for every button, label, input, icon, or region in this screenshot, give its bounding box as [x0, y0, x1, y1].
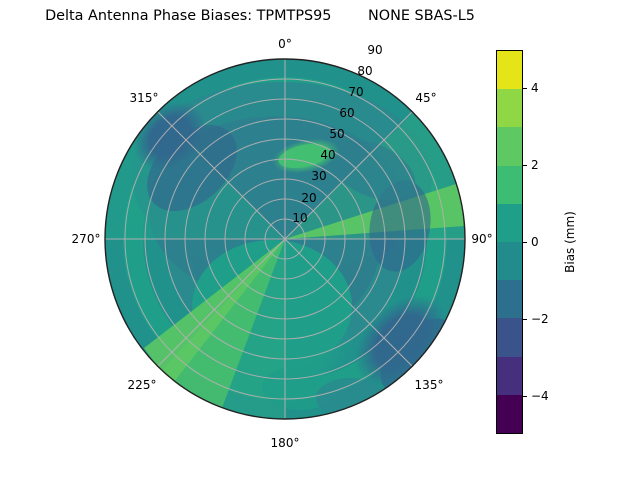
colorbar-band-9: [497, 395, 522, 433]
colorbar-band-8: [497, 357, 522, 395]
colorbar-band-3: [497, 166, 522, 204]
r-tick-90: 90: [367, 43, 382, 57]
colorbar-tick-0: [523, 242, 527, 243]
colorbar: 4 2 0 −2 −4: [496, 50, 523, 434]
theta-tick-270: 270°: [72, 232, 101, 246]
colorbar-tick-4: [523, 88, 527, 89]
colorbar-band-0: [497, 51, 522, 89]
azimuth-gridlines: [105, 59, 465, 419]
colorbar-band-1: [497, 89, 522, 127]
theta-tick-225: 225°: [128, 378, 157, 392]
r-tick-50: 50: [329, 127, 344, 141]
colorbar-ticklabel-m4: −4: [531, 389, 549, 403]
colorbar-gradient: [496, 50, 523, 434]
r-tick-30: 30: [311, 169, 326, 183]
theta-tick-0: 0°: [278, 37, 292, 51]
page-title: Delta Antenna Phase Biases: TPMTPS95 NON…: [0, 8, 520, 24]
r-tick-80: 80: [357, 64, 372, 78]
polar-plot-axes: 0° 45° 90° 135° 180° 225° 270° 315° 10 2…: [104, 58, 466, 420]
theta-tick-90: 90°: [471, 232, 492, 246]
r-tick-70: 70: [348, 85, 363, 99]
colorbar-ticklabel-4: 4: [531, 81, 539, 95]
matplotlib-figure: Delta Antenna Phase Biases: TPMTPS95 NON…: [0, 0, 640, 480]
colorbar-ticklabel-m2: −2: [531, 312, 549, 326]
theta-tick-180: 180°: [271, 436, 300, 450]
colorbar-axis-label: Bias (mm): [560, 50, 580, 434]
r-tick-10: 10: [292, 211, 307, 225]
colorbar-band-4: [497, 204, 522, 242]
colorbar-band-5: [497, 242, 522, 280]
colorbar-tick-m4: [523, 396, 527, 397]
theta-tick-45: 45°: [415, 91, 436, 105]
colorbar-tick-m2: [523, 319, 527, 320]
colorbar-band-7: [497, 318, 522, 356]
colorbar-tick-2: [523, 165, 527, 166]
theta-tick-315: 315°: [130, 91, 159, 105]
colorbar-band-6: [497, 280, 522, 318]
colorbar-band-2: [497, 127, 522, 165]
theta-tick-135: 135°: [415, 378, 444, 392]
colorbar-ticklabel-2: 2: [531, 158, 539, 172]
r-tick-60: 60: [339, 106, 354, 120]
r-tick-40: 40: [320, 148, 335, 162]
polar-contour-surface: [104, 58, 466, 420]
colorbar-ticklabel-0: 0: [531, 235, 539, 249]
r-tick-20: 20: [301, 191, 316, 205]
